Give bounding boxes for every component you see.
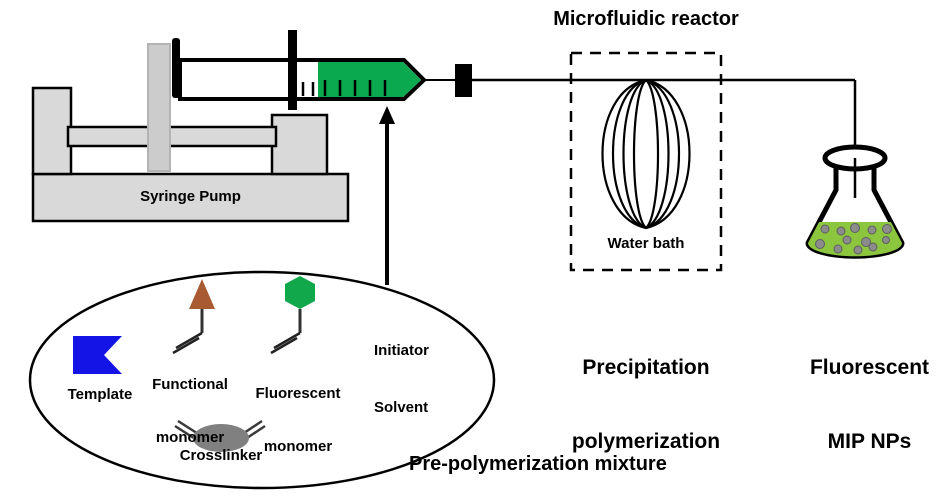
product-line-2: MIP NPs bbox=[790, 430, 949, 455]
syringe-pump-label: Syringe Pump bbox=[33, 188, 348, 206]
precipitation-line-1: Precipitation bbox=[546, 356, 746, 381]
erlenmeyer-flask-graphic bbox=[800, 147, 910, 262]
pump-left-post bbox=[33, 88, 71, 174]
pre-polymerization-mixture-caption: Pre-polymerization mixture bbox=[409, 453, 667, 477]
tube-connector-fitting bbox=[455, 64, 472, 97]
functional-monomer-line-2: monomer bbox=[138, 429, 242, 447]
mixture-feed-arrow bbox=[379, 106, 395, 285]
functional-monomer-line-1: Functional bbox=[138, 376, 242, 394]
figure-canvas: Syringe Pump Microfluidic reactor Water … bbox=[0, 0, 949, 504]
precipitation-line-2: polymerization bbox=[546, 430, 746, 455]
microfluidic-reactor-title: Microfluidic reactor bbox=[521, 8, 771, 32]
syringe-graphic bbox=[172, 30, 455, 110]
pump-carriage bbox=[148, 44, 170, 171]
template-label: Template bbox=[55, 386, 145, 404]
fluorescent-mip-nps-label: Fluorescent MIP NPs bbox=[790, 306, 949, 504]
syringe-stopper bbox=[288, 30, 297, 110]
fluorescent-monomer-line-1: Fluorescent bbox=[243, 385, 353, 403]
crosslinker-label: Crosslinker bbox=[161, 447, 281, 465]
product-line-1: Fluorescent bbox=[790, 356, 949, 381]
water-bath-label: Water bath bbox=[571, 235, 721, 253]
tubing bbox=[472, 80, 855, 180]
initiator-label: Initiator bbox=[374, 342, 429, 360]
fluorescent-monomer-label: Fluorescent monomer bbox=[243, 350, 353, 492]
pump-right-block bbox=[272, 115, 327, 174]
reactor-coil bbox=[603, 80, 690, 228]
solvent-label: Solvent bbox=[374, 399, 428, 417]
pump-rail bbox=[68, 127, 276, 146]
